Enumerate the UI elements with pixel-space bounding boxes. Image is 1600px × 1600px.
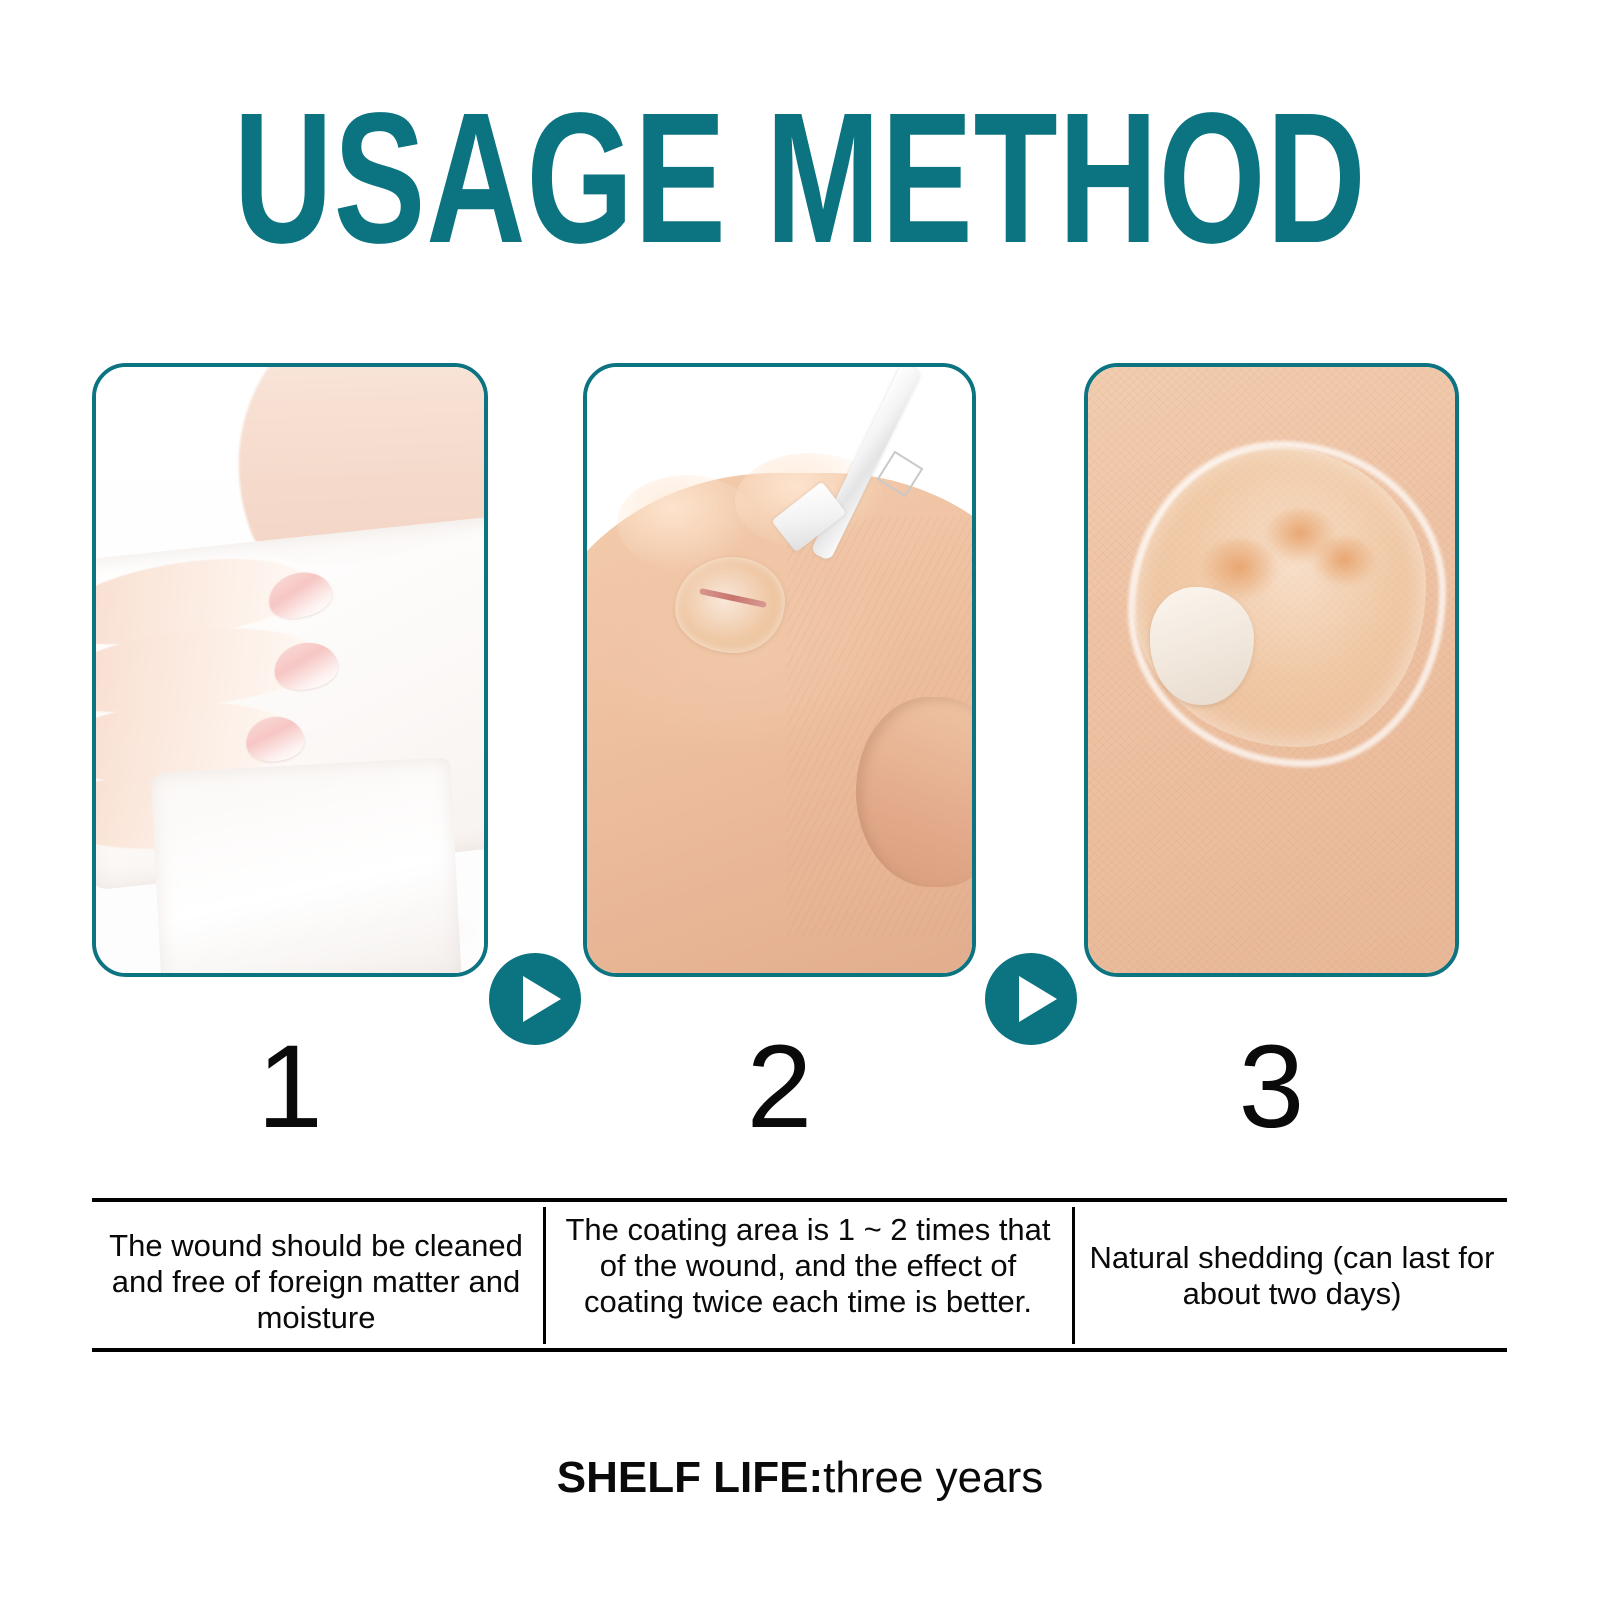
triangle-glyph [523, 976, 561, 1022]
caption-rule-bottom [92, 1348, 1507, 1352]
step-photo-image-2 [587, 367, 972, 973]
shelf-life-label: SHELF LIFE: [557, 1453, 823, 1502]
triangle-glyph [1019, 976, 1057, 1022]
step-caption-2: The coating area is 1 ~ 2 times that of … [552, 1212, 1064, 1320]
caption-rule-top [92, 1198, 1507, 1202]
step-photo-frame-3 [1084, 363, 1459, 977]
wound-crust-icon [1312, 537, 1376, 587]
caption-divider-1 [543, 1207, 546, 1344]
step-photo-image-1 [96, 367, 484, 973]
step-photo-frame-2 [583, 363, 976, 977]
step-photo-frame-1 [92, 363, 488, 977]
caption-divider-2 [1072, 1207, 1075, 1344]
gel-coating-icon [675, 557, 785, 653]
step-number-3: 3 [1084, 1028, 1459, 1146]
step-caption-3: Natural shedding (can last for about two… [1082, 1240, 1502, 1312]
step-number-1: 1 [92, 1028, 488, 1146]
shelf-life-line: SHELF LIFE:three years [0, 1450, 1600, 1506]
shelf-life-value: three years [823, 1453, 1043, 1502]
tissue-wipe-fold-icon [150, 757, 461, 973]
page-title: USAGE METHOD [208, 86, 1392, 272]
play-arrow-icon [985, 953, 1077, 1045]
steps-photo-row [0, 363, 1600, 979]
step-number-2: 2 [583, 1028, 976, 1146]
step-photo-image-3 [1088, 367, 1455, 973]
play-arrow-icon [489, 953, 581, 1045]
step-caption-1: The wound should be cleaned and free of … [96, 1228, 536, 1336]
